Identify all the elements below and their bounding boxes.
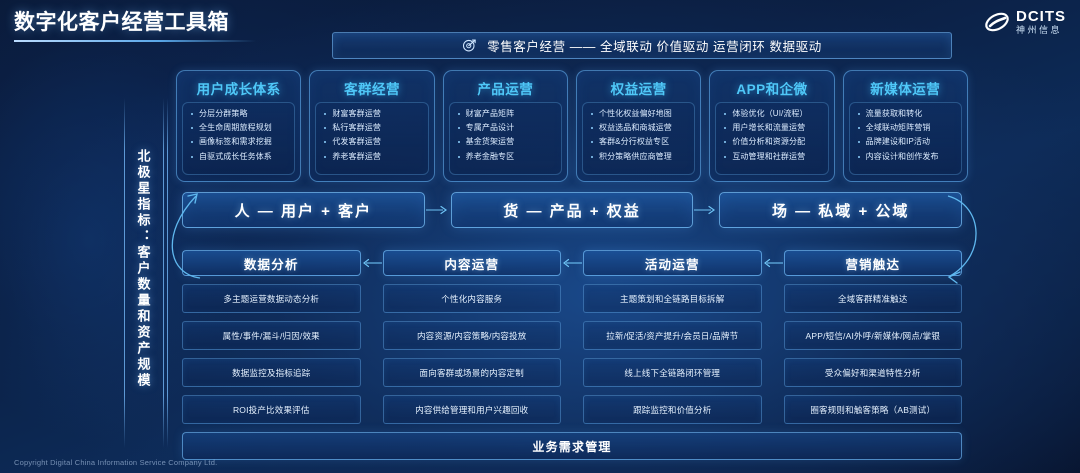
grid-cell[interactable]: 个性化内容服务 — [383, 284, 562, 313]
card-benefits-operations[interactable]: 权益运营 个性化权益偏好地图 权益选品和商城运营 客群&分行权益专区 积分策略供… — [576, 70, 701, 182]
dcits-swirl-icon — [984, 10, 1010, 34]
arrow-goods-to-place — [693, 204, 719, 216]
arrow-marketing-to-activity — [762, 257, 784, 269]
target-arrow-icon — [462, 38, 477, 53]
card-title: 用户成长体系 — [182, 76, 295, 102]
card-body: 分层分群策略 全生命周期旅程规划 画像标签和需求挖掘 自驱式成长任务体系 — [182, 102, 295, 175]
column-data-analysis: 多主题运营数据动态分析 属性/事件/漏斗/归因/效果 数据监控及指标追踪 ROI… — [182, 284, 361, 424]
grid-cell[interactable]: APP/短信/AI外呼/新媒体/网点/掌银 — [784, 321, 963, 350]
grid-cell[interactable]: 面向客群或场景的内容定制 — [383, 358, 562, 387]
arrow-content-to-data — [361, 257, 383, 269]
column-content-operations: 个性化内容服务 内容资源/内容策略/内容投放 面向客群或场景的内容定制 内容供给… — [383, 284, 562, 424]
card-bullet: 互动管理和社群运营 — [721, 150, 823, 164]
pill-goods[interactable]: 货 — 产品 + 权益 — [451, 192, 694, 228]
grid-cell[interactable]: 跟踪监控和价值分析 — [583, 395, 762, 424]
grid-cell[interactable]: 拉新/促活/资产提升/会员日/品牌节 — [583, 321, 762, 350]
card-bullet: 价值分析和资源分配 — [721, 135, 823, 149]
grid-cell[interactable]: 内容资源/内容策略/内容投放 — [383, 321, 562, 350]
grid-cell[interactable]: 受众偏好和渠道特性分析 — [784, 358, 963, 387]
card-body: 个性化权益偏好地图 权益选品和商城运营 客群&分行权益专区 积分策略供应商管理 — [582, 102, 695, 175]
card-bullet: 内容设计和创作发布 — [855, 150, 957, 164]
column-activity-operations: 主题策划和全链路目标拆解 拉新/促活/资产提升/会员日/品牌节 线上线下全链路闭… — [583, 284, 762, 424]
axis-rule-inner-a — [163, 98, 164, 448]
card-title: APP和企微 — [715, 76, 828, 102]
card-bullet: 用户增长和流量运营 — [721, 121, 823, 135]
card-bullet: 全域联动矩阵营销 — [855, 121, 957, 135]
logo-name: DCITS — [1016, 9, 1066, 24]
section-header-data-analysis[interactable]: 数据分析 — [182, 250, 361, 276]
card-user-growth[interactable]: 用户成长体系 分层分群策略 全生命周期旅程规划 画像标签和需求挖掘 自驱式成长任… — [176, 70, 301, 182]
grid-cell[interactable]: ROI投产比效果评估 — [182, 395, 361, 424]
grid-cell[interactable]: 数据监控及指标追踪 — [182, 358, 361, 387]
axis-rule-outer — [124, 98, 125, 448]
card-bullet: 代发客群运营 — [321, 135, 423, 149]
pill-place[interactable]: 场 — 私域 + 公域 — [719, 192, 962, 228]
arrow-people-to-goods — [425, 204, 451, 216]
card-bullet: 基金货架运营 — [455, 135, 557, 149]
card-app-wecom[interactable]: APP和企微 体验优化（UI/流程） 用户增长和流量运营 价值分析和资源分配 互… — [709, 70, 834, 182]
grid-cell[interactable]: 线上线下全链路闭环管理 — [583, 358, 762, 387]
grid-cell[interactable]: 内容供给管理和用户兴趣回收 — [383, 395, 562, 424]
banner-text: 零售客户经营 —— 全域联动 价值驱动 运营闭环 数据驱动 — [487, 36, 822, 55]
logo-subtitle: 神州信息 — [1016, 26, 1066, 35]
card-body: 流量获取和转化 全域联动矩阵营销 品牌建设和IP活动 内容设计和创作发布 — [849, 102, 962, 175]
brand-logo: DCITS 神州信息 — [984, 9, 1066, 35]
section-header-marketing-reach[interactable]: 营销触达 — [784, 250, 963, 276]
column-marketing-reach: 全域客群精准触达 APP/短信/AI外呼/新媒体/网点/掌银 受众偏好和渠道特性… — [784, 284, 963, 424]
card-bullet: 个性化权益偏好地图 — [588, 107, 690, 121]
axis-rule-inner-b — [167, 98, 168, 448]
grid-cell[interactable]: 多主题运营数据动态分析 — [182, 284, 361, 313]
people-goods-place-row: 人 — 用户 + 客户 货 — 产品 + 权益 场 — 私域 + 公域 — [182, 192, 962, 228]
card-bullet: 分层分群策略 — [188, 107, 290, 121]
card-bullet: 画像标签和需求挖掘 — [188, 135, 290, 149]
pill-people[interactable]: 人 — 用户 + 客户 — [182, 192, 425, 228]
operations-detail-grid: 多主题运营数据动态分析 属性/事件/漏斗/归因/效果 数据监控及指标追踪 ROI… — [182, 284, 962, 424]
card-bullet: 私行客群运营 — [321, 121, 423, 135]
arrow-activity-to-content — [561, 257, 583, 269]
card-bullet: 流量获取和转化 — [855, 107, 957, 121]
operations-loop-headers: 数据分析 内容运营 活动运营 营销触达 — [182, 250, 962, 276]
card-body: 财富产品矩阵 专属产品设计 基金货架运营 养老金融专区 — [449, 102, 562, 175]
card-bullet: 客群&分行权益专区 — [588, 135, 690, 149]
card-bullet: 养老客群运营 — [321, 150, 423, 164]
card-bullet: 养老金融专区 — [455, 150, 557, 164]
card-bullet: 积分策略供应商管理 — [588, 150, 690, 164]
card-customer-group[interactable]: 客群经营 财富客群运营 私行客群运营 代发客群运营 养老客群运营 — [309, 70, 434, 182]
north-star-metric-label: 北极星指标：客户数量和资产规模 — [130, 104, 156, 434]
retail-strategy-banner: 零售客户经营 —— 全域联动 价值驱动 运营闭环 数据驱动 — [332, 32, 952, 59]
card-product-operations[interactable]: 产品运营 财富产品矩阵 专属产品设计 基金货架运营 养老金融专区 — [443, 70, 568, 182]
card-bullet: 财富产品矩阵 — [455, 107, 557, 121]
business-requirements-bar[interactable]: 业务需求管理 — [182, 432, 962, 460]
card-bullet: 专属产品设计 — [455, 121, 557, 135]
section-header-content-operations[interactable]: 内容运营 — [383, 250, 562, 276]
grid-cell[interactable]: 全域客群精准触达 — [784, 284, 963, 313]
grid-cell[interactable]: 主题策划和全链路目标拆解 — [583, 284, 762, 313]
card-new-media[interactable]: 新媒体运营 流量获取和转化 全域联动矩阵营销 品牌建设和IP活动 内容设计和创作… — [843, 70, 968, 182]
card-title: 权益运营 — [582, 76, 695, 102]
card-bullet: 自驱式成长任务体系 — [188, 150, 290, 164]
grid-cell[interactable]: 属性/事件/漏斗/归因/效果 — [182, 321, 361, 350]
card-bullet: 财富客群运营 — [321, 107, 423, 121]
card-body: 体验优化（UI/流程） 用户增长和流量运营 价值分析和资源分配 互动管理和社群运… — [715, 102, 828, 175]
copyright-footer: Copyright Digital China Information Serv… — [14, 458, 217, 467]
card-bullet: 品牌建设和IP活动 — [855, 135, 957, 149]
card-title: 新媒体运营 — [849, 76, 962, 102]
card-title: 产品运营 — [449, 76, 562, 102]
section-header-activity-operations[interactable]: 活动运营 — [583, 250, 762, 276]
main-panel: 零售客户经营 —— 全域联动 价值驱动 运营闭环 数据驱动 用户成长体系 分层分… — [176, 32, 968, 462]
card-bullet: 体验优化（UI/流程） — [721, 107, 823, 121]
capability-cards-row: 用户成长体系 分层分群策略 全生命周期旅程规划 画像标签和需求挖掘 自驱式成长任… — [176, 70, 968, 182]
grid-cell[interactable]: 圈客规则和触客策略（AB测试） — [784, 395, 963, 424]
card-bullet: 权益选品和商城运营 — [588, 121, 690, 135]
card-bullet: 全生命周期旅程规划 — [188, 121, 290, 135]
card-title: 客群经营 — [315, 76, 428, 102]
card-body: 财富客群运营 私行客群运营 代发客群运营 养老客群运营 — [315, 102, 428, 175]
